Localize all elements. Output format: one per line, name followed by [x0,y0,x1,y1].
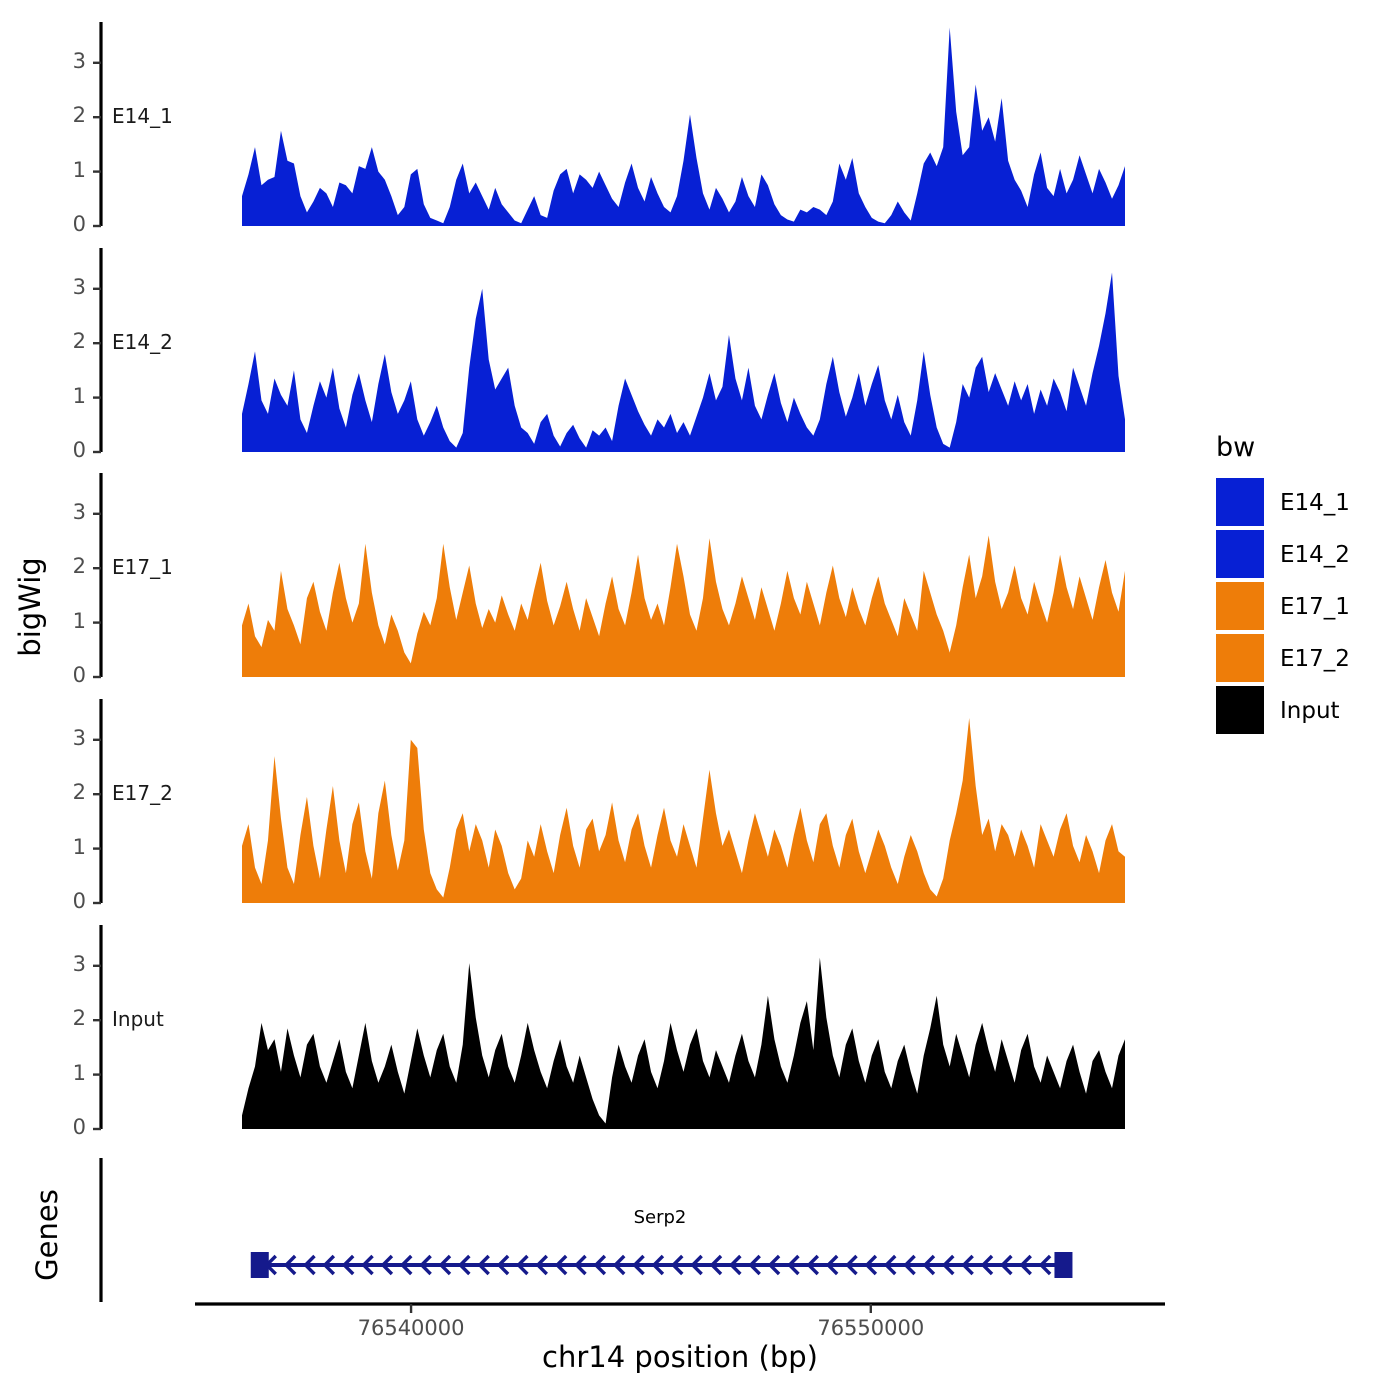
coverage-panel-input: 0123Input [0,925,1200,1135]
coverage-area [242,958,1125,1129]
legend-item-e14_2[interactable]: E14_2 [1216,530,1396,582]
legend-label: E14_1 [1280,490,1350,516]
track-label-e17_2: E17_2 [112,781,173,805]
x-tick-label: 76550000 [781,1316,961,1340]
genes-svg [0,1150,1200,1310]
coverage-svg [0,925,1200,1135]
legend-swatch [1216,634,1264,682]
gene-exon-end[interactable] [1054,1252,1072,1278]
coverage-svg [0,699,1200,909]
x-axis-title: chr14 position (bp) [180,1340,1180,1374]
coverage-area [242,718,1125,903]
track-label-e14_1: E14_1 [112,104,173,128]
legend-swatch [1216,478,1264,526]
y-tick-label: 3 [40,952,86,976]
coverage-svg [0,22,1200,232]
gene-exon-start[interactable] [251,1252,269,1278]
y-tick-label: 1 [40,384,86,408]
coverage-panel-e17_1: 0123E17_1 [0,473,1200,683]
legend-item-e17_2[interactable]: E17_2 [1216,634,1396,686]
coverage-panel-e14_1: 0123E14_1 [0,22,1200,232]
legend-label: Input [1280,698,1340,724]
track-label-e14_2: E14_2 [112,330,173,354]
legend[interactable]: E14_1E14_2E17_1E17_2Input [1216,478,1396,738]
coverage-svg [0,473,1200,683]
track-label-input: Input [112,1007,164,1031]
y-tick-label: 1 [40,1061,86,1085]
coverage-area [242,27,1125,226]
legend-label: E17_2 [1280,646,1350,672]
y-tick-label: 2 [40,780,86,804]
coverage-svg [0,248,1200,458]
x-tick-label: 76540000 [321,1316,501,1340]
legend-item-e17_1[interactable]: E17_1 [1216,582,1396,634]
legend-swatch [1216,582,1264,630]
track-label-e17_1: E17_1 [112,555,173,579]
y-tick-label: 2 [40,103,86,127]
coverage-area [242,272,1125,452]
coverage-panel-e14_2: 0123E14_2 [0,248,1200,458]
coverage-area [242,536,1125,677]
x-axis [0,1300,1200,1340]
legend-label: E14_2 [1280,542,1350,568]
legend-swatch [1216,530,1264,578]
y-tick-label: 2 [40,1006,86,1030]
legend-swatch [1216,686,1264,734]
y-tick-label: 3 [40,275,86,299]
y-tick-label: 1 [40,158,86,182]
y-tick-label: 0 [40,889,86,913]
y-tick-label: 0 [40,438,86,462]
y-tick-label: 3 [40,726,86,750]
coverage-panel-e17_2: 0123E17_2 [0,699,1200,909]
y-tick-label: 1 [40,835,86,859]
legend-label: E17_1 [1280,594,1350,620]
legend-title: bw [1216,432,1255,463]
y-tick-label: 0 [40,212,86,236]
y-tick-label: 2 [40,329,86,353]
genome-browser-figure: bigWig Genes 0123E14_10123E14_20123E17_1… [0,0,1400,1400]
y-tick-label: 1 [40,609,86,633]
y-tick-label: 3 [40,500,86,524]
legend-item-input[interactable]: Input [1216,686,1396,738]
legend-item-e14_1[interactable]: E14_1 [1216,478,1396,530]
y-tick-label: 0 [40,663,86,687]
y-tick-label: 3 [40,49,86,73]
genes-panel: Serp2 [0,1150,1200,1310]
gene-name-label: Serp2 [634,1207,687,1228]
y-tick-label: 0 [40,1115,86,1139]
y-tick-label: 2 [40,554,86,578]
